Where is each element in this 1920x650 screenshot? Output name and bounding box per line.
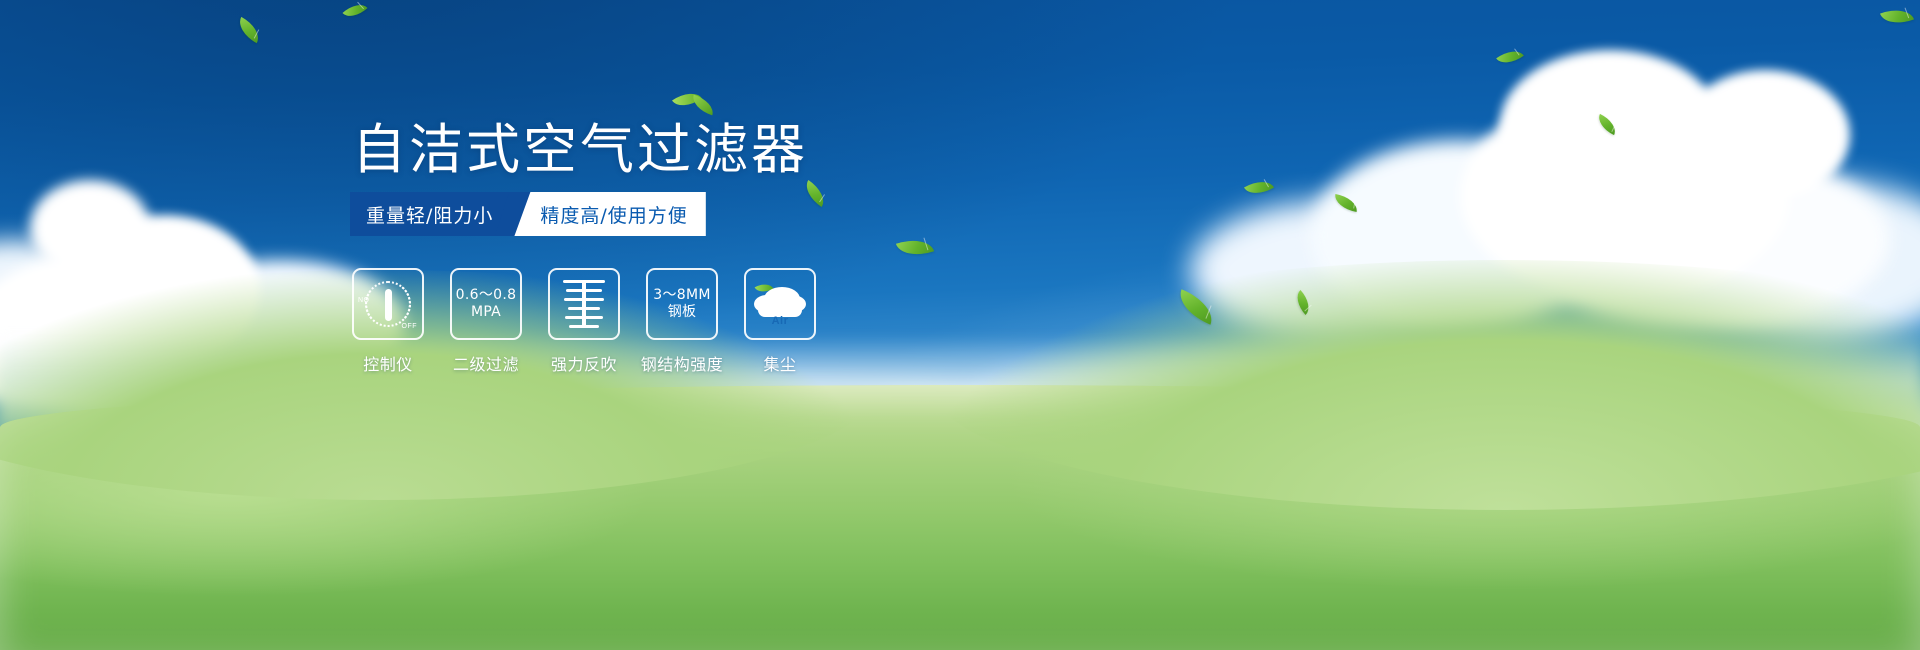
air-cloud-icon: Air	[752, 283, 808, 325]
feature-caption: 控制仪	[363, 351, 413, 375]
page-title: 自洁式空气过滤器	[352, 120, 808, 180]
feature-box-control: NO OFF	[352, 268, 424, 340]
feature-box-steel: 3～8MM 钢板	[646, 268, 718, 340]
feature-box-dust: Air	[744, 268, 816, 340]
feature-item-steel[interactable]: 3～8MM 钢板 钢结构强度	[646, 268, 718, 375]
feature-item-pressure[interactable]: 0.6～0.8 MPA 二级过滤	[450, 268, 522, 375]
feature-icon-row: NO OFF 控制仪 0.6～0.8 MPA 二级过滤	[352, 268, 816, 375]
feature-tab-group: 重量轻/阻力小 精度高/使用方便	[350, 192, 706, 236]
filter-stack-icon	[562, 280, 606, 328]
feature-item-blowback[interactable]: 强力反吹	[548, 268, 620, 375]
dial-on-label: NO	[358, 297, 370, 304]
steel-thickness-line1: 3～8MM	[653, 287, 710, 304]
feature-caption: 强力反吹	[551, 351, 617, 375]
product-hero-banner: 自洁式空气过滤器 重量轻/阻力小 精度高/使用方便 NO OFF	[0, 0, 1920, 650]
steel-thickness-line2: 钢板	[668, 304, 697, 321]
tab-weight-resistance[interactable]: 重量轻/阻力小	[350, 192, 515, 236]
feature-item-dust[interactable]: Air 集尘	[744, 268, 816, 375]
feature-item-control[interactable]: NO OFF 控制仪	[352, 268, 424, 375]
feature-box-blowback	[548, 268, 620, 340]
feature-caption: 钢结构强度	[641, 351, 724, 375]
pressure-value-line2: MPA	[471, 304, 501, 321]
pressure-value-line1: 0.6～0.8	[456, 287, 517, 304]
title-block: 自洁式空气过滤器	[352, 120, 808, 180]
banner-content: 自洁式空气过滤器 重量轻/阻力小 精度高/使用方便 NO OFF	[0, 0, 1920, 650]
control-dial-icon: NO OFF	[361, 277, 415, 331]
dial-off-label: OFF	[402, 323, 418, 330]
air-label: Air	[752, 315, 808, 327]
feature-box-pressure: 0.6～0.8 MPA	[450, 268, 522, 340]
feature-caption: 二级过滤	[453, 351, 519, 375]
tab-precision-ease[interactable]: 精度高/使用方便	[514, 192, 705, 236]
feature-caption: 集尘	[763, 351, 796, 375]
